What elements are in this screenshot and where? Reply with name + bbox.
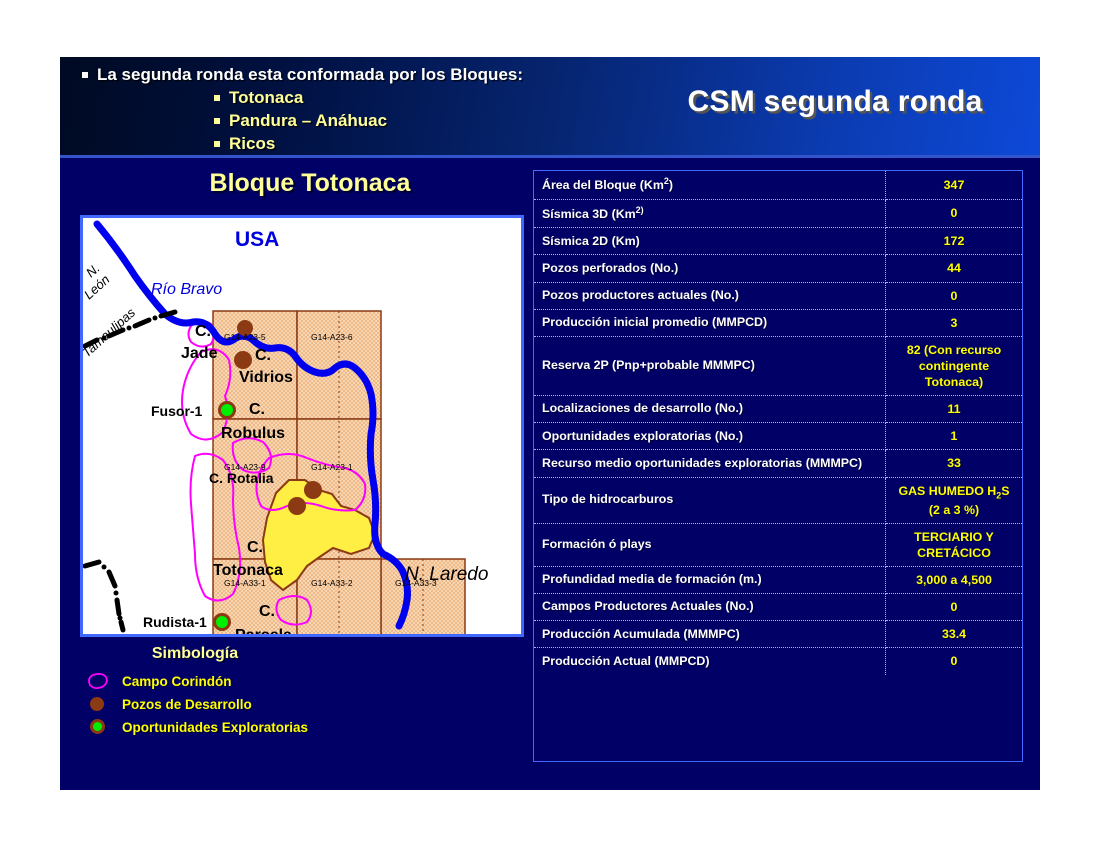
map-label-rio-bravo: Río Bravo [151, 281, 222, 298]
spec-value: 0 [886, 648, 1023, 675]
map-grid-code-1: G14-A23-6 [311, 332, 353, 342]
bullet-square-icon [214, 95, 220, 101]
spec-value: 44 [886, 255, 1023, 282]
map-label-field-robulus: C. [249, 401, 265, 418]
spec-key: Oportunidades exploratorias (No.) [534, 423, 886, 450]
map-label-field-totonaca-2: Totonaca [213, 562, 283, 579]
legend-item-label: Campo Corindón [122, 674, 232, 689]
map-grid-code-2: G14-A23-9 [224, 462, 266, 472]
spec-key: Sísmica 3D (Km2) [534, 199, 886, 228]
legend-item-oportunidades-exploratorias: Oportunidades Exploratorias [80, 717, 510, 737]
header-sub-bullet-2: Ricos [214, 133, 602, 156]
brown-dot-icon [84, 694, 114, 714]
spec-value: GAS HUMEDO H2S (2 a 3 %) [886, 477, 1023, 523]
legend-item-label: Pozos de Desarrollo [122, 697, 252, 712]
header-bullet-list: La segunda ronda esta conformada por los… [82, 64, 602, 156]
map-label-usa: USA [235, 228, 279, 251]
spec-value: 3 [886, 309, 1023, 336]
bullet-square-icon [214, 118, 220, 124]
spec-value: 172 [886, 228, 1023, 255]
table-row: Área del Bloque (Km2)347 [534, 171, 1022, 199]
table-row: Formación ó playsTERCIARIO Y CRETÁCICO [534, 523, 1022, 566]
spec-value: 33.4 [886, 621, 1023, 648]
legend-item-campo-corindon: Campo Corindón [80, 671, 510, 691]
green-dot-icon [84, 717, 114, 737]
spec-key: Pozos perforados (No.) [534, 255, 886, 282]
map-grid-code-5: G14-A33-2 [311, 578, 353, 588]
header-sub-bullet-1: Pandura – Anáhuac [214, 110, 602, 133]
map-label-field-vidrios-2: Vidrios [239, 369, 293, 386]
bullet-square-icon [214, 141, 220, 147]
spec-key: Área del Bloque (Km2) [534, 171, 886, 199]
header-sub-bullet-label: Totonaca [229, 87, 303, 110]
header-sub-bullet-label: Pandura – Anáhuac [229, 110, 387, 133]
spec-value: 82 (Con recurso contingente Totonaca) [886, 336, 1023, 395]
table-row: Pozos perforados (No.)44 [534, 255, 1022, 282]
state-boundary-line [85, 312, 175, 630]
table-row: Producción inicial promedio (MMPCD)3 [534, 309, 1022, 336]
spec-table-body: Área del Bloque (Km2)347 Sísmica 3D (Km2… [534, 171, 1022, 675]
spec-key: Producción Actual (MMPCD) [534, 648, 886, 675]
spec-value: 347 [886, 171, 1023, 199]
map-label-field-robulus-2: Robulus [221, 425, 285, 442]
legend-title: Simbología [80, 645, 310, 663]
map-label-field-vidrios: C. [255, 347, 271, 364]
spec-key: Producción Acumulada (MMMPC) [534, 621, 886, 648]
map-label-state-tamaulipas: Tamaulipas [83, 305, 138, 361]
table-row: Producción Acumulada (MMMPC)33.4 [534, 621, 1022, 648]
map-label-field-parcela-2: Parcela [235, 627, 292, 634]
spec-key: Pozos productores actuales (No.) [534, 282, 886, 309]
bullet-square-icon [82, 72, 88, 78]
map-label-field-jade: C. [195, 323, 211, 340]
table-row: Pozos productores actuales (No.)0 [534, 282, 1022, 309]
slide-canvas: La segunda ronda esta conformada por los… [60, 57, 1040, 790]
header-underline-rule [60, 155, 1040, 158]
map-grid-code-0: G14-A23-5 [224, 332, 266, 342]
table-row: Producción Actual (MMPCD)0 [534, 648, 1022, 675]
table-row: Campos Productores Actuales (No.)0 [534, 594, 1022, 621]
spec-value: 0 [886, 594, 1023, 621]
table-row: Profundidad media de formación (m.)3,000… [534, 567, 1022, 594]
map-label-well-terminacion: Terminación [125, 631, 207, 634]
header-main-bullet-label: La segunda ronda esta conformada por los… [97, 64, 523, 87]
map-label-well-rudista-1: Rudista-1 [143, 614, 207, 630]
spec-key: Tipo de hidrocarburos [534, 477, 886, 523]
slide-header-band: La segunda ronda esta conformada por los… [60, 57, 1040, 155]
block-location-map: USA Río Bravo N. León Tamaulipas N. Lare… [83, 218, 521, 634]
header-sub-bullet-label: Ricos [229, 133, 275, 156]
table-row: Localizaciones de desarrollo (No.)11 [534, 396, 1022, 423]
map-grid-code-3: G14-A23-1 [311, 462, 353, 472]
spec-key: Recurso medio oportunidades exploratoria… [534, 450, 886, 477]
header-main-bullet: La segunda ronda esta conformada por los… [82, 64, 602, 87]
spec-value: 1 [886, 423, 1023, 450]
map-panel: USA Río Bravo N. León Tamaulipas N. Lare… [80, 215, 524, 637]
spec-value: 11 [886, 396, 1023, 423]
map-label-field-parcela: C. [259, 603, 275, 620]
map-label-state-nleon-2: León [83, 272, 113, 302]
table-row: Sísmica 3D (Km2)0 [534, 199, 1022, 228]
header-sub-bullet-list: Totonaca Pandura – Anáhuac Ricos [214, 87, 602, 156]
map-legend: Simbología Campo Corindón Pozos de Desar… [80, 645, 510, 740]
spec-key: Profundidad media de formación (m.) [534, 567, 886, 594]
spec-key: Reserva 2P (Pnp+probable MMMPC) [534, 336, 886, 395]
block-spec-table: Área del Bloque (Km2)347 Sísmica 3D (Km2… [534, 171, 1022, 675]
spec-value: TERCIARIO Y CRETÁCICO [886, 523, 1023, 566]
map-label-well-fusor-1: Fusor-1 [151, 403, 203, 419]
spec-value: 0 [886, 282, 1023, 309]
deck-title: CSM segunda ronda [640, 85, 1030, 119]
table-row: Reserva 2P (Pnp+probable MMMPC)82 (Con r… [534, 336, 1022, 395]
header-sub-bullet-0: Totonaca [214, 87, 602, 110]
map-label-field-jade-2: Jade [181, 345, 218, 362]
spec-key: Sísmica 2D (Km) [534, 228, 886, 255]
block-spec-table-panel: Área del Bloque (Km2)347 Sísmica 3D (Km2… [533, 170, 1023, 762]
spec-key: Producción inicial promedio (MMPCD) [534, 309, 886, 336]
spec-key: Campos Productores Actuales (No.) [534, 594, 886, 621]
map-grid-code-6: G14-A33-3 [395, 578, 437, 588]
table-row: Sísmica 2D (Km)172 [534, 228, 1022, 255]
map-label-field-totonaca: C. [247, 539, 263, 556]
legend-item-pozos-desarrollo: Pozos de Desarrollo [80, 694, 510, 714]
spec-value: 33 [886, 450, 1023, 477]
spec-key: Localizaciones de desarrollo (No.) [534, 396, 886, 423]
map-label-field-rotalia: C. Rotalia [209, 470, 274, 486]
spec-value: 3,000 a 4,500 [886, 567, 1023, 594]
map-title: Bloque Totonaca [100, 169, 520, 198]
legend-item-label: Oportunidades Exploratorias [122, 720, 308, 735]
table-row: Tipo de hidrocarburosGAS HUMEDO H2S (2 a… [534, 477, 1022, 523]
spec-key: Formación ó plays [534, 523, 886, 566]
table-row: Oportunidades exploratorias (No.)1 [534, 423, 1022, 450]
corindon-outline-icon [84, 671, 114, 691]
map-grid-code-4: G14-A33-1 [224, 578, 266, 588]
table-row: Recurso medio oportunidades exploratoria… [534, 450, 1022, 477]
spec-value: 0 [886, 199, 1023, 228]
